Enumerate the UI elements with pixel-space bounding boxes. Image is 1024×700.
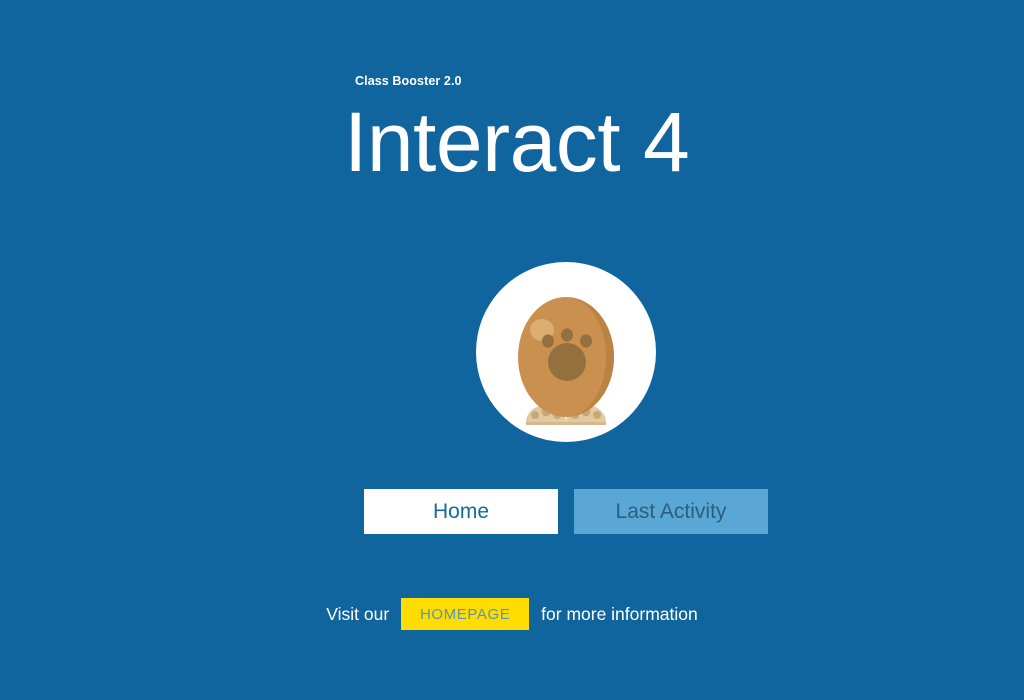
homepage-button[interactable]: HOMEPAGE <box>401 598 529 630</box>
brand-tag: Class Booster 2.0 <box>355 74 462 88</box>
home-button[interactable]: Home <box>364 489 558 534</box>
primary-actions: Home Last Activity <box>364 489 768 534</box>
egg-creature-icon <box>476 262 656 442</box>
app-root: Class Booster 2.0 Interact 4 <box>0 0 1024 700</box>
footer-text-before: Visit our <box>326 604 389 625</box>
page-title: Interact 4 <box>344 100 689 184</box>
app-logo <box>476 262 656 442</box>
last-activity-button[interactable]: Last Activity <box>574 489 768 534</box>
footer: Visit our HOMEPAGE for more information <box>0 598 1024 630</box>
footer-text-after: for more information <box>541 604 698 625</box>
